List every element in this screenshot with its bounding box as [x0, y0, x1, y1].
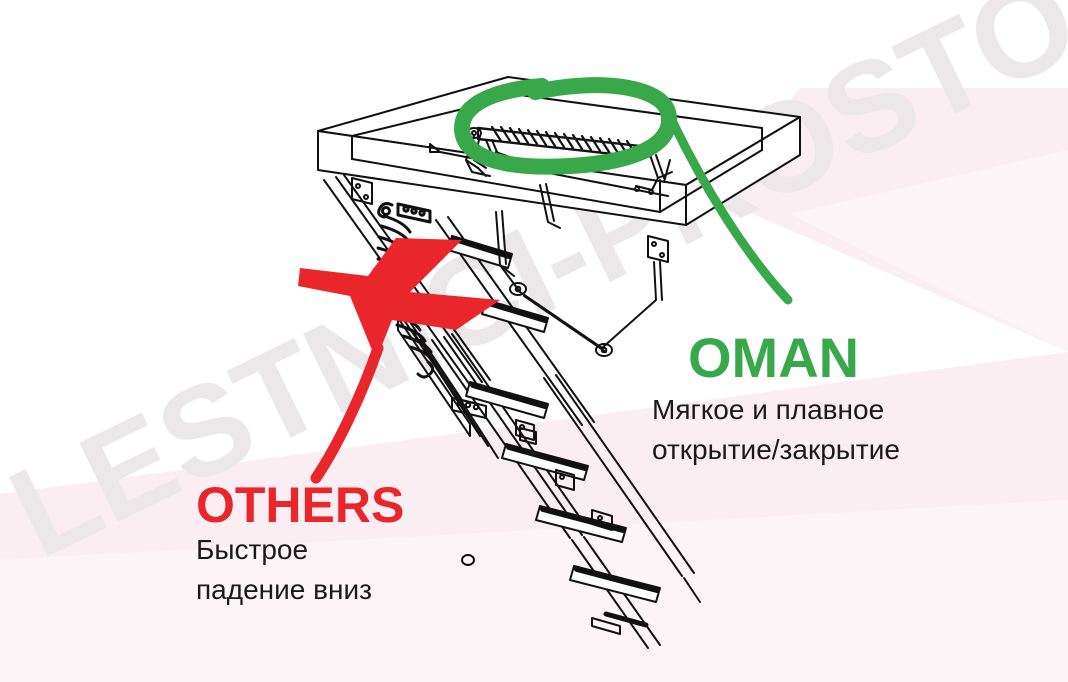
red-arrow [298, 238, 500, 478]
green-ellipse-highlight [462, 85, 788, 300]
infographic-canvas: LESTNICI-PROSTO.RU [0, 0, 1068, 682]
green-pointer-line [668, 112, 788, 300]
annotation-layer [0, 0, 1068, 682]
red-arrow-tail [316, 348, 378, 478]
